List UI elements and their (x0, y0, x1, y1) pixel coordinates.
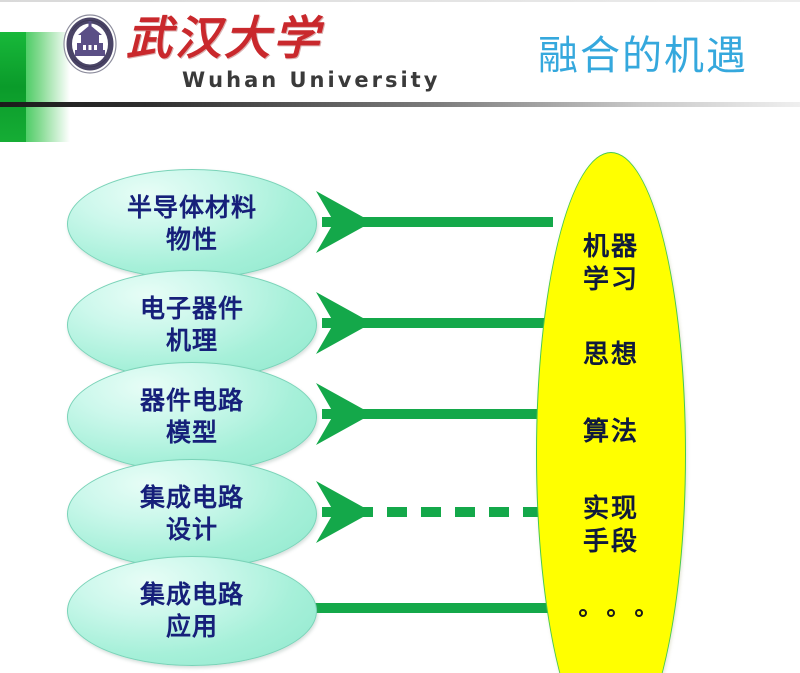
node-3-line-1: 器件电路 (140, 385, 244, 417)
wuhan-university-seal-icon (62, 13, 118, 75)
node-3-line-2: 模型 (166, 417, 218, 449)
diagram-area: 半导体材料 物性 电子器件 机理 器件电路 模型 集成电路 设计 集成电路 应用… (0, 104, 800, 673)
header-top-hairline (0, 0, 800, 2)
ellipsis-dot-2 (607, 609, 615, 617)
hub-line-6: 手段 (583, 526, 639, 559)
hub-line-4: 算法 (583, 416, 639, 449)
node-ellipse-5[interactable]: 集成电路 应用 (67, 556, 317, 666)
node-4-line-1: 集成电路 (140, 482, 244, 514)
hub-ellipsis-dots (579, 609, 643, 617)
node-2-line-1: 电子器件 (140, 293, 244, 325)
hub-line-1: 机器 (583, 231, 639, 264)
logo-english-text: Wuhan University (182, 68, 440, 92)
logo-chinese-text: 武汉大学 (126, 8, 336, 70)
node-ellipse-1[interactable]: 半导体材料 物性 (67, 169, 317, 279)
node-1-line-2: 物性 (166, 224, 218, 256)
node-2-line-2: 机理 (166, 325, 218, 357)
slide-canvas: 武汉大学 Wuhan University 融合的机遇 (0, 0, 800, 673)
hub-line-5: 实现 (583, 493, 639, 526)
node-5-line-2: 应用 (166, 611, 218, 643)
hub-line-3: 思想 (583, 339, 639, 372)
node-4-line-2: 设计 (166, 514, 218, 546)
node-ellipse-3[interactable]: 器件电路 模型 (67, 362, 317, 472)
hub-line-2: 学习 (583, 264, 639, 297)
slide-header: 武汉大学 Wuhan University 融合的机遇 (0, 0, 800, 104)
node-5-line-1: 集成电路 (140, 579, 244, 611)
page-title: 融合的机遇 (538, 23, 748, 81)
node-ellipse-4[interactable]: 集成电路 设计 (67, 459, 317, 569)
node-1-line-1: 半导体材料 (127, 192, 257, 224)
ellipsis-dot-3 (635, 609, 643, 617)
ellipsis-dot-1 (579, 609, 587, 617)
